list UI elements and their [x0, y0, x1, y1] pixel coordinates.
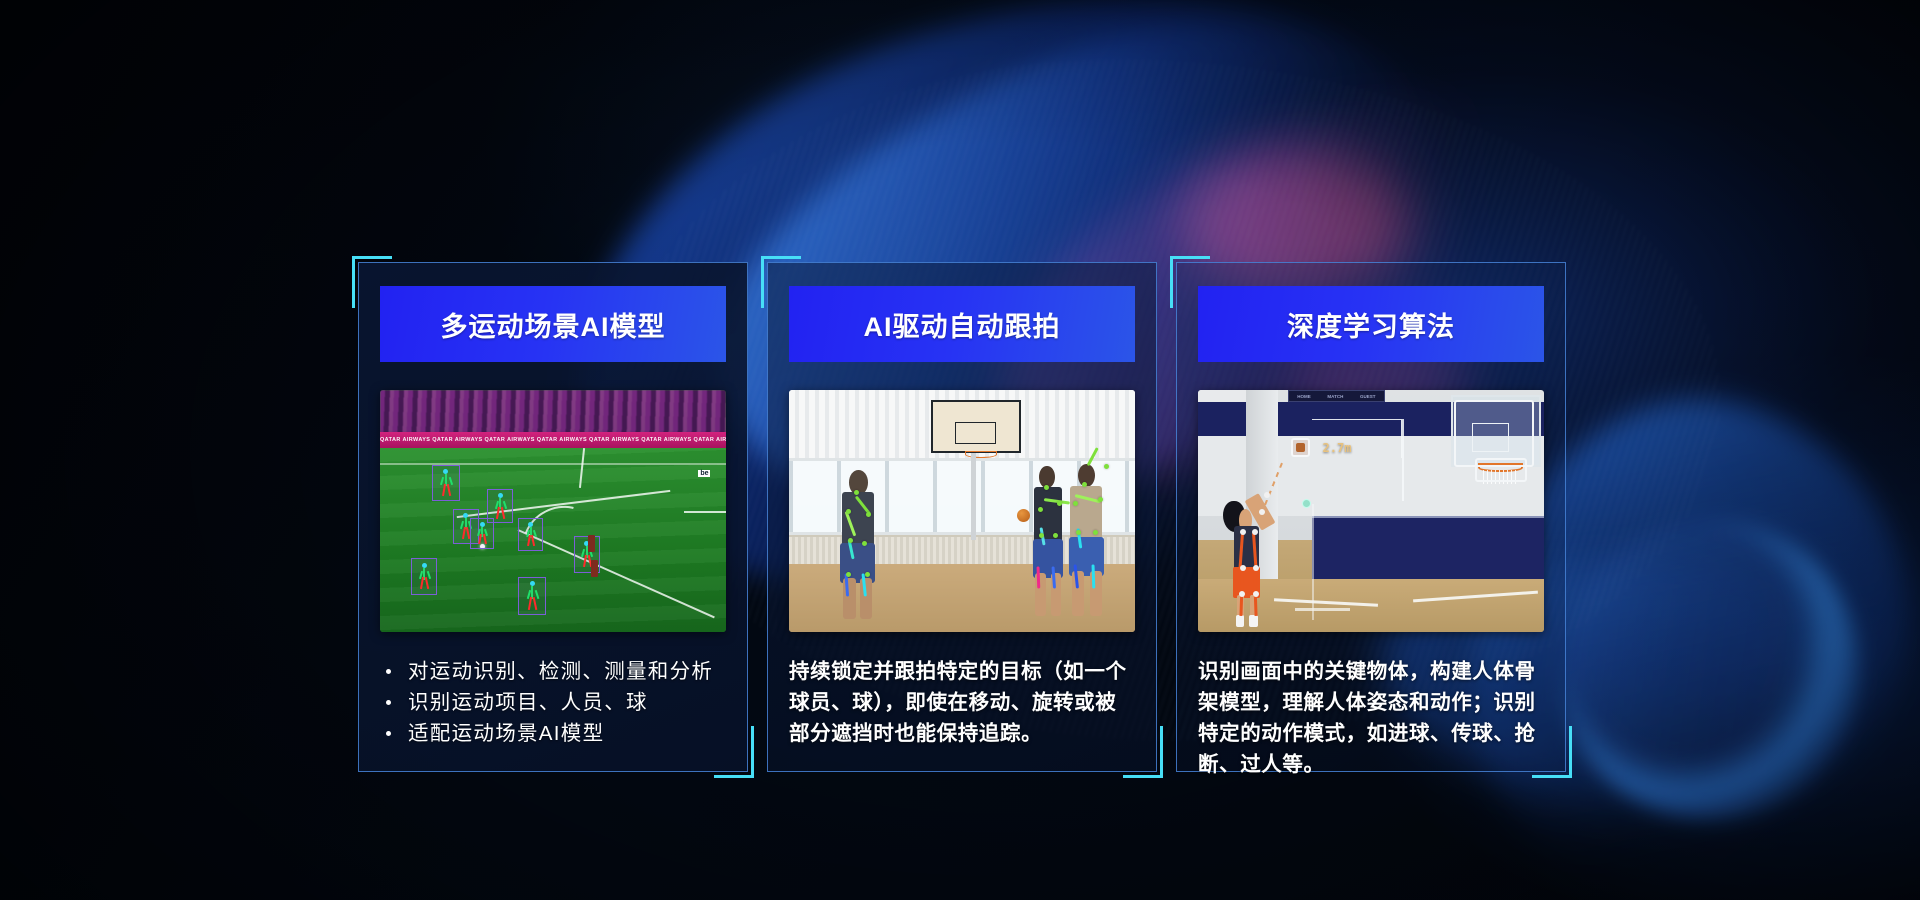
banner-text: QATAR AIRWAYS QATAR AIRWAYS QATAR AIRWAY…: [380, 437, 726, 443]
card-body: 持续锁定并跟拍特定的目标（如一个球员、球），即使在移动、旋转或被部分遮挡时也能保…: [789, 656, 1135, 749]
feature-card-group: 多运动场景AI模型 QATAR AIRWAYS QATAR AIRWAYS QA…: [0, 0, 1920, 900]
feature-card-multi-sport-ai-model[interactable]: 多运动场景AI模型 QATAR AIRWAYS QATAR AIRWAYS QA…: [358, 262, 748, 772]
soccer-pitch-detection-thumbnail[interactable]: QATAR AIRWAYS QATAR AIRWAYS QATAR AIRWAY…: [380, 390, 726, 632]
hand-keypoint-marker: [1302, 499, 1311, 508]
court-line: [1274, 598, 1378, 606]
tracking-vertical-line: [1402, 419, 1404, 501]
scoreboard-label-home: HOME: [1297, 394, 1311, 399]
card-body: 对运动识别、检测、测量和分析 识别运动项目、人员、球 适配运动场景AI模型: [380, 656, 726, 749]
card-description: 持续锁定并跟拍特定的目标（如一个球员、球），即使在移动、旋转或被部分遮挡时也能保…: [789, 656, 1135, 749]
stadium-crowd: [380, 390, 726, 438]
rim-detection-box: [1475, 458, 1527, 482]
untracked-player: [591, 560, 598, 577]
tracking-floor-marker: [1295, 608, 1350, 611]
tracking-vertical-line-2: [1312, 504, 1314, 620]
pitch-grass: be: [380, 448, 726, 632]
player-bbox: [411, 558, 437, 595]
distance-label: 2.7m: [1323, 441, 1352, 455]
pose-skeleton: [523, 522, 537, 547]
card-title: 多运动场景AI模型: [441, 305, 666, 344]
pitch-line-vertical: [579, 448, 585, 488]
card-title: 深度学习算法: [1287, 305, 1455, 344]
card-description: 识别画面中的关键物体，构建人体骨架模型，理解人体姿态和动作；识别特定的动作模式，…: [1198, 656, 1544, 780]
ball-detection-box: [1291, 438, 1310, 457]
feature-card-ai-auto-tracking-shot[interactable]: AI驱动自动跟拍: [767, 262, 1157, 772]
backboard: [931, 400, 1021, 453]
feature-bullet-list: 对运动识别、检测、测量和分析 识别运动项目、人员、球 适配运动场景AI模型: [380, 656, 726, 749]
tracked-player-left: [824, 470, 900, 625]
card-title: AI驱动自动跟拍: [864, 305, 1061, 344]
player-bbox: [470, 518, 494, 549]
shot-tracking-thumbnail[interactable]: HOME MATCH GUEST: [1198, 390, 1544, 632]
player-bbox: [432, 465, 460, 502]
hoop-pole: [971, 453, 977, 540]
pose-skeleton: [524, 581, 540, 610]
shooter-player: [1222, 487, 1277, 627]
player-bbox: [518, 518, 542, 551]
player-bbox: [518, 577, 546, 616]
basketball: [1017, 509, 1030, 522]
scoreboard: HOME MATCH GUEST: [1288, 390, 1385, 402]
list-item: 识别运动项目、人员、球: [380, 687, 726, 718]
feature-card-deep-learning-algorithm[interactable]: 深度学习算法 HOME MATCH GUEST: [1176, 262, 1566, 772]
pitch-line-right: [684, 511, 726, 513]
pose-skeleton: [416, 563, 431, 591]
untracked-player: [588, 535, 595, 552]
gym-basketball-pose-thumbnail[interactable]: [789, 390, 1135, 632]
card-title-bar: 多运动场景AI模型: [380, 286, 726, 362]
wall-pad-navy: [1312, 516, 1544, 579]
advertising-banner: QATAR AIRWAYS QATAR AIRWAYS QATAR AIRWAY…: [380, 432, 726, 448]
card-body: 识别画面中的关键物体，构建人体骨架模型，理解人体姿态和动作；识别特定的动作模式，…: [1198, 656, 1544, 780]
list-item: 对运动识别、检测、测量和分析: [380, 656, 726, 687]
court-line: [1413, 590, 1537, 602]
list-item: 适配运动场景AI模型: [380, 718, 726, 749]
pose-skeleton: [493, 493, 508, 519]
scoreboard-label-match: MATCH: [1327, 394, 1343, 399]
pose-skeleton: [475, 522, 489, 545]
ad-board-be: be: [698, 470, 710, 477]
pose-skeleton: [438, 469, 454, 497]
card-title-bar: AI驱动自动跟拍: [789, 286, 1135, 362]
scoreboard-label-guest: GUEST: [1360, 394, 1376, 399]
tracked-player-right-b: [1052, 458, 1128, 623]
card-title-bar: 深度学习算法: [1198, 286, 1544, 362]
